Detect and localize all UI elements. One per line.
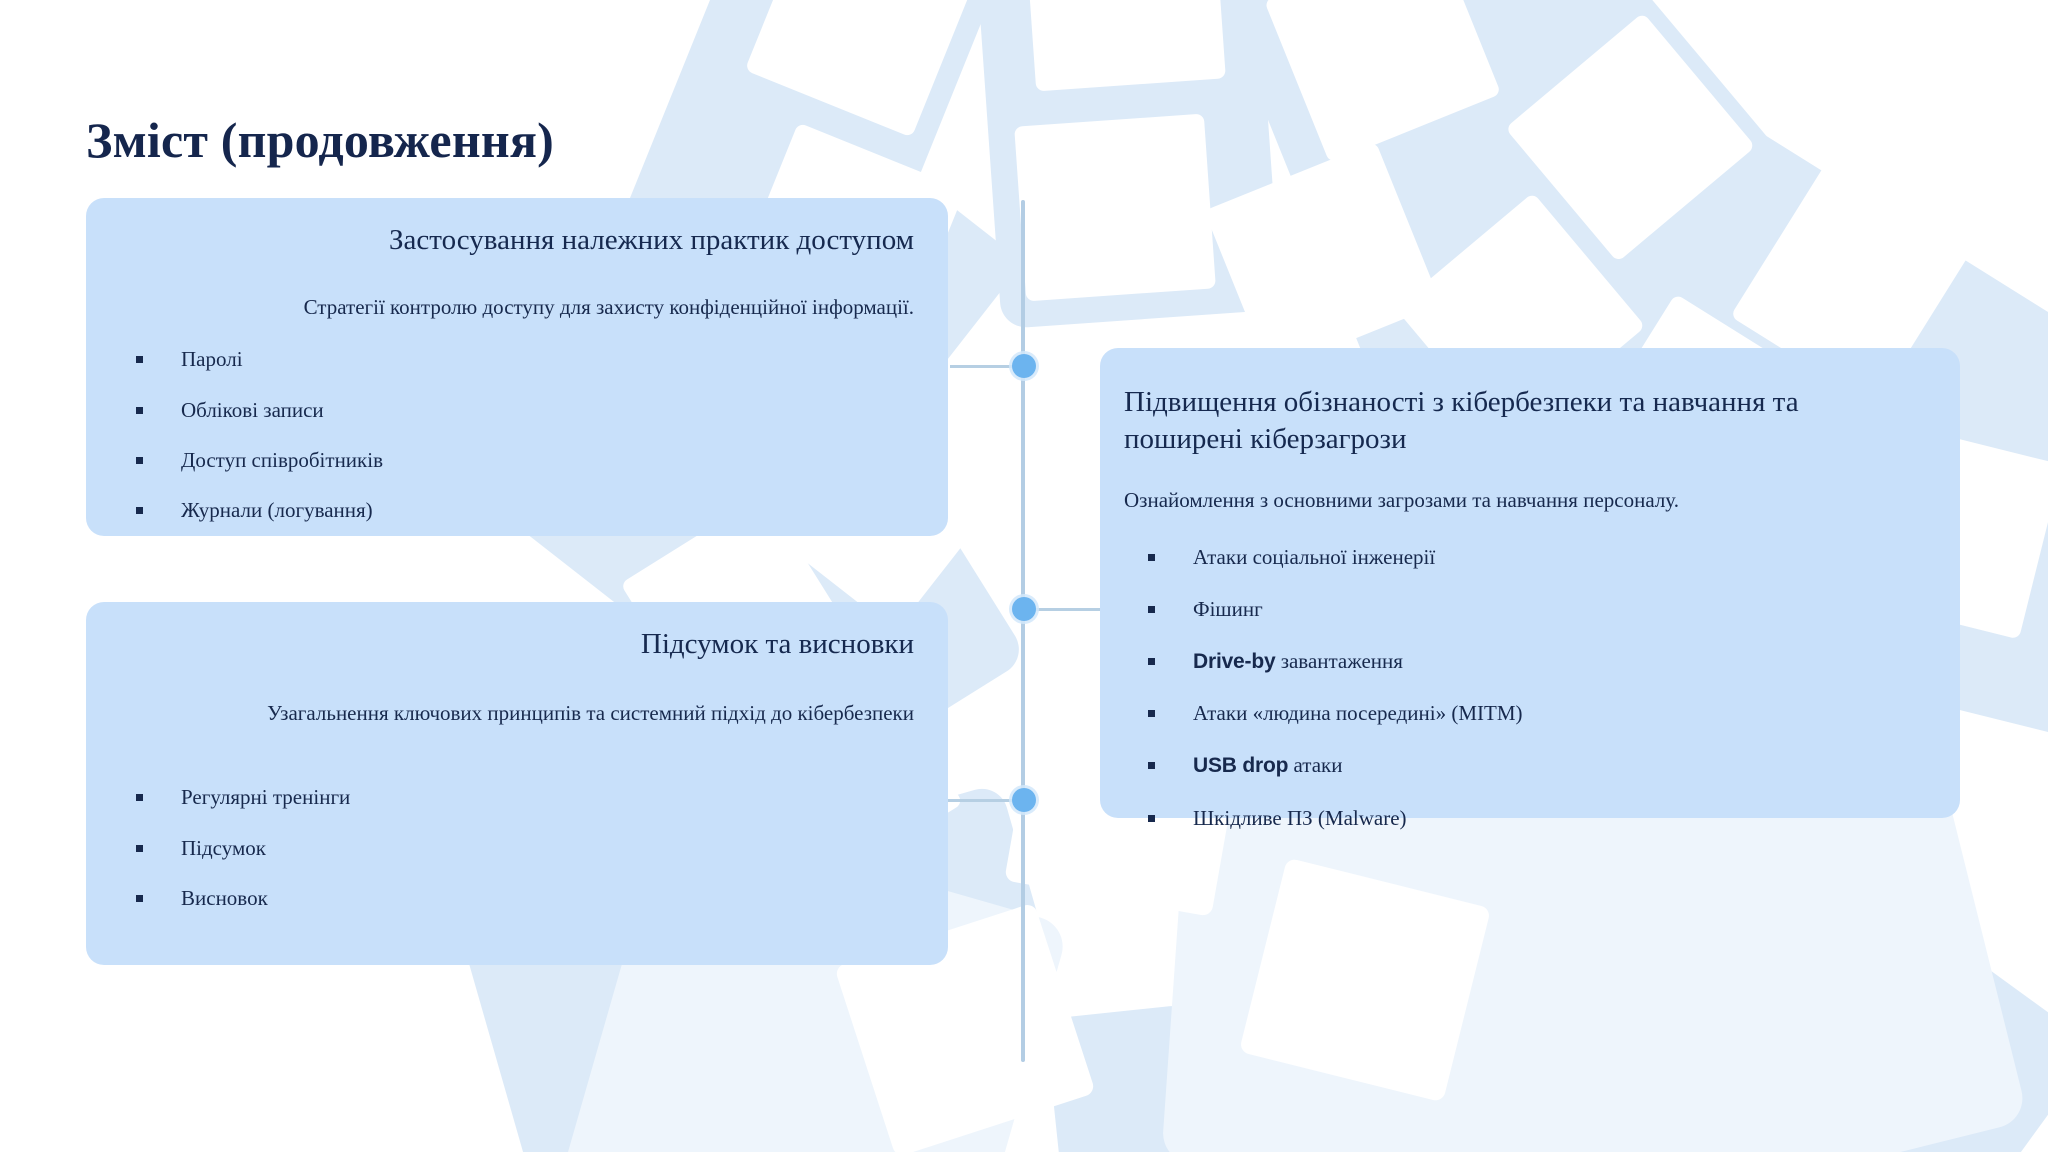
bullet-label: Шкідливе ПЗ (Malware) bbox=[1193, 806, 1407, 831]
bullet-rest: Атаки соціальної інженерії bbox=[1193, 545, 1435, 569]
list-item: Фішинг bbox=[1124, 597, 1920, 622]
card-summary-bullet-list: Регулярні тренінги Підсумок Висновок bbox=[112, 785, 922, 911]
card-awareness-bullet-list: Атаки соціальної інженерії Фішинг Drive-… bbox=[1124, 545, 1920, 831]
bullet-label: USB drop атаки bbox=[1193, 753, 1342, 778]
slide-canvas: Зміст (продовження) Застосування належни… bbox=[0, 0, 2048, 1152]
bullet-label: Паролі bbox=[181, 347, 243, 372]
bullet-label: Регулярні тренінги bbox=[181, 785, 350, 810]
timeline-node-access[interactable] bbox=[1012, 354, 1036, 378]
card-awareness-title: Підвищення обізнаності з кібербезпеки та… bbox=[1124, 384, 1920, 458]
page-title: Зміст (продовження) bbox=[86, 112, 554, 170]
bullet-square-icon bbox=[136, 895, 143, 902]
bullet-square-icon bbox=[136, 794, 143, 801]
bullet-rest: завантаження bbox=[1275, 649, 1403, 673]
bullet-rest: Шкідливе ПЗ (Malware) bbox=[1193, 806, 1407, 830]
bullet-label: Фішинг bbox=[1193, 597, 1263, 622]
bullet-lead: Drive-by bbox=[1193, 650, 1275, 673]
card-access-practices[interactable]: Застосування належних практик доступом С… bbox=[86, 198, 948, 536]
bullet-square-icon bbox=[1148, 710, 1155, 717]
bullet-label: Атаки «людина посередині» (MITM) bbox=[1193, 701, 1523, 726]
bullet-square-icon bbox=[136, 457, 143, 464]
timeline-axis bbox=[1021, 200, 1025, 1062]
bullet-square-icon bbox=[136, 507, 143, 514]
bullet-square-icon bbox=[1148, 606, 1155, 613]
bullet-label: Drive-by завантаження bbox=[1193, 649, 1403, 674]
timeline-connector-access bbox=[950, 365, 1020, 368]
bullet-label: Підсумок bbox=[181, 836, 266, 861]
bullet-lead: USB drop bbox=[1193, 754, 1288, 777]
bullet-label: Облікові записи bbox=[181, 398, 324, 423]
bullet-square-icon bbox=[136, 356, 143, 363]
bullet-square-icon bbox=[136, 845, 143, 852]
timeline-node-awareness[interactable] bbox=[1012, 597, 1036, 621]
list-item: Drive-by завантаження bbox=[1124, 649, 1920, 674]
bullet-square-icon bbox=[1148, 658, 1155, 665]
list-item: Атаки «людина посередині» (MITM) bbox=[1124, 701, 1920, 726]
list-item: Шкідливе ПЗ (Malware) bbox=[1124, 806, 1920, 831]
list-item: Паролі bbox=[112, 347, 922, 372]
bullet-square-icon bbox=[1148, 815, 1155, 822]
list-item: Висновок bbox=[112, 886, 922, 911]
card-awareness-subtitle: Ознайомлення з основними загрозами та на… bbox=[1124, 486, 1920, 514]
bullet-square-icon bbox=[1148, 554, 1155, 561]
bullet-rest: Атаки «людина посередині» (MITM) bbox=[1193, 701, 1523, 725]
timeline-connector-awareness bbox=[1034, 608, 1106, 611]
bullet-square-icon bbox=[136, 407, 143, 414]
bullet-label: Атаки соціальної інженерії bbox=[1193, 545, 1435, 570]
list-item: USB drop атаки bbox=[1124, 753, 1920, 778]
card-access-title: Застосування належних практик доступом bbox=[112, 222, 922, 259]
list-item: Облікові записи bbox=[112, 398, 922, 423]
card-summary-title: Підсумок та висновки bbox=[112, 626, 922, 663]
list-item: Підсумок bbox=[112, 836, 922, 861]
card-summary-subtitle: Узагальнення ключових принципів та систе… bbox=[112, 699, 922, 727]
timeline-node-summary[interactable] bbox=[1012, 788, 1036, 812]
list-item: Атаки соціальної інженерії bbox=[1124, 545, 1920, 570]
list-item: Журнали (логування) bbox=[112, 498, 922, 523]
card-access-subtitle: Стратегії контролю доступу для захисту к… bbox=[112, 293, 922, 321]
bullet-label: Журнали (логування) bbox=[181, 498, 373, 523]
card-access-bullet-list: Паролі Облікові записи Доступ співробітн… bbox=[112, 347, 922, 523]
card-awareness-threats[interactable]: Підвищення обізнаності з кібербезпеки та… bbox=[1100, 348, 1960, 818]
bullet-rest: атаки bbox=[1288, 753, 1342, 777]
list-item: Регулярні тренінги bbox=[112, 785, 922, 810]
card-summary-conclusions[interactable]: Підсумок та висновки Узагальнення ключов… bbox=[86, 602, 948, 965]
bullet-label: Висновок bbox=[181, 886, 268, 911]
timeline-connector-summary bbox=[944, 799, 1020, 802]
bullet-rest: Фішинг bbox=[1193, 597, 1263, 621]
bullet-square-icon bbox=[1148, 762, 1155, 769]
list-item: Доступ співробітників bbox=[112, 448, 922, 473]
bullet-label: Доступ співробітників bbox=[181, 448, 383, 473]
